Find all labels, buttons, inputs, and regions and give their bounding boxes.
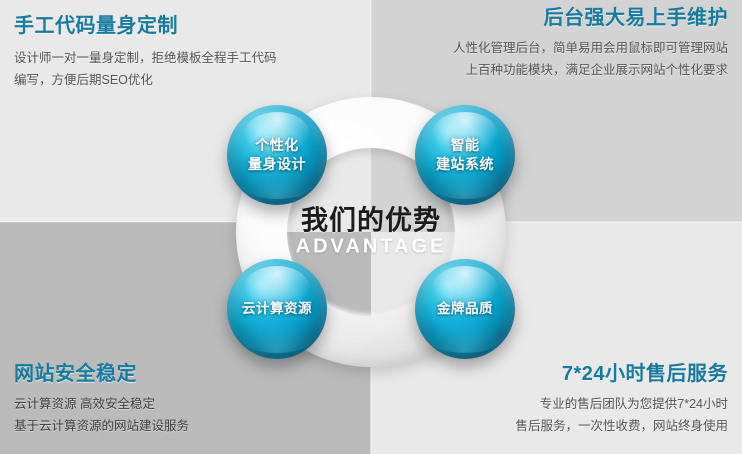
feature-body-top-left: 设计师一对一量身定制，拒绝模板全程手工代码 编写，方便后期SEO优化 <box>14 48 344 92</box>
feature-block-top-left: 手工代码量身定制 设计师一对一量身定制，拒绝模板全程手工代码 编写，方便后期SE… <box>14 14 344 92</box>
node-gold-quality[interactable]: 金牌品质 <box>415 259 515 359</box>
node-gold-quality-label: 金牌品质 <box>437 300 493 318</box>
feature-body-bottom-left: 云计算资源 高效安全稳定 基于云计算资源的网站建设服务 <box>14 394 344 438</box>
feature-block-bottom-left: 网站安全稳定 云计算资源 高效安全稳定 基于云计算资源的网站建设服务 <box>14 362 344 438</box>
feature-heading-top-left: 手工代码量身定制 <box>14 14 344 39</box>
advantage-ring: 我们的优势 ADVANTAGE 个性化 量身设计 智能 建站系统 云计算资源 金… <box>236 97 506 367</box>
feature-block-bottom-right: 7*24小时售后服务 专业的售后团队为您提供7*24小时 售后服务，一次性收费，… <box>383 362 728 438</box>
node-custom-design[interactable]: 个性化 量身设计 <box>227 105 327 205</box>
feature-body-bottom-right: 专业的售后团队为您提供7*24小时 售后服务，一次性收费，网站终身使用 <box>383 394 728 438</box>
node-custom-design-label: 个性化 量身设计 <box>248 136 306 174</box>
feature-heading-top-right: 后台强大易上手维护 <box>383 6 728 31</box>
node-cloud-resource-label: 云计算资源 <box>242 300 312 318</box>
node-smart-builder[interactable]: 智能 建站系统 <box>415 105 515 205</box>
feature-body-top-right: 人性化管理后台，简单易用会用鼠标即可管理网站 上百种功能模块，满足企业展示网站个… <box>383 38 728 82</box>
advantage-infographic: 手工代码量身定制 设计师一对一量身定制，拒绝模板全程手工代码 编写，方便后期SE… <box>0 0 742 454</box>
node-smart-builder-label: 智能 建站系统 <box>436 136 494 174</box>
node-cloud-resource[interactable]: 云计算资源 <box>227 259 327 359</box>
feature-block-top-right: 后台强大易上手维护 人性化管理后台，简单易用会用鼠标即可管理网站 上百种功能模块… <box>383 6 728 82</box>
